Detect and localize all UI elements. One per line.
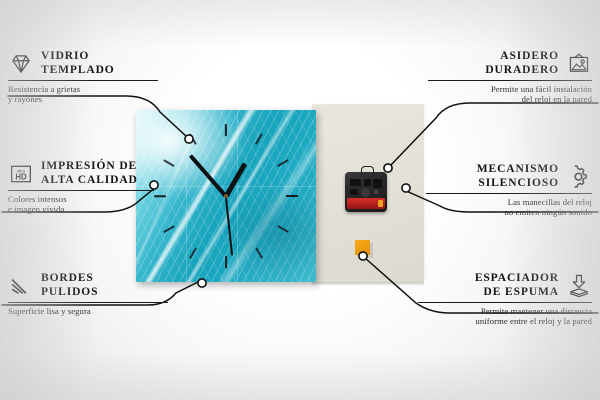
foam-spacer-part [355,240,370,255]
mechanism-detail [373,179,382,188]
feature-desc-line1: Superficie lisa y segura [8,306,174,316]
ultra-hd-icon-main: HD [15,172,27,181]
feature-title-line1: IMPRESIÓN DE [41,160,138,174]
feature-desc-line1: Las manecillas del reloj [420,197,592,207]
feature-desc-line2: y rayones [8,94,164,104]
feature-mecanismo-silencioso: MECANISMO SILENCIOSO Las manecillas del … [420,163,592,218]
feature-title-line2: DURADERO [485,64,559,78]
clock-tick [225,256,227,268]
mechanism-detail [350,189,358,195]
feature-desc-line1: Permite una fácil instalación [422,84,592,94]
feature-divider [8,302,168,303]
feature-title-line1: MECANISMO [477,163,559,177]
clock-mechanism [345,172,387,212]
mechanism-detail [350,179,361,186]
feature-impresion-alta-calidad: ultra HD IMPRESIÓN DE ALTA CALIDAD Color… [8,160,160,215]
mechanism-dial [361,188,370,197]
feature-title-line2: PULIDOS [41,286,98,300]
feature-title-line2: SILENCIOSO [477,177,559,191]
feature-divider [426,193,592,194]
mechanism-shaft-icon [361,166,374,175]
foam-spacer-icon [566,273,592,299]
feature-desc-line1: Colores intensos [8,194,160,204]
feature-title-line1: ASIDERO [485,50,559,64]
feature-title-line2: TEMPLADO [41,64,115,78]
clock-tick [286,195,298,197]
mechanism-detail [374,190,378,194]
feature-divider [8,190,154,191]
feature-bordes-pulidos: BORDES PULIDOS Superficie lisa y segura [8,272,174,316]
polished-edges-icon [8,273,34,299]
feature-desc-line2: uniforme entre el reloj y la pared [412,316,592,326]
feature-title-line2: DE ESPUMA [475,286,559,300]
feature-desc-line2: del reloj en la pared [422,94,592,104]
feature-desc-line1: Resistencia a grietas [8,84,164,94]
mechanism-detail [364,179,371,186]
feature-desc-line1: Permite mantener una distancia [412,306,592,316]
feature-divider [428,80,592,81]
ultra-hd-icon: ultra HD [8,161,34,187]
clock-tick [225,124,227,136]
feature-asidero-duradero: ASIDERO DURADERO Permite una fácil insta… [422,50,592,105]
gear-icon [566,164,592,190]
mechanism-battery [347,198,385,209]
feature-title-line1: BORDES [41,272,98,286]
feature-desc-line2: e imagen vívida [8,204,160,214]
wall-hanger-icon [566,51,592,77]
wall-clock-product [136,110,316,282]
feature-divider [8,80,158,81]
feature-vidrio-templado: VIDRIO TEMPLADO Resistencia a grietas y … [8,50,164,105]
diamond-icon [8,51,34,77]
infographic-canvas: VIDRIO TEMPLADO Resistencia a grietas y … [0,0,600,400]
feature-title-line2: ALTA CALIDAD [41,174,138,188]
feature-espaciador-de-espuma: ESPACIADOR DE ESPUMA Permite mantener un… [412,272,592,327]
feature-desc-line2: no emiten ningún sonido [420,207,592,217]
clock-center-cap [224,194,228,198]
feature-title-line1: ESPACIADOR [475,272,559,286]
feature-title-line1: VIDRIO [41,50,115,64]
feature-divider [418,302,592,303]
